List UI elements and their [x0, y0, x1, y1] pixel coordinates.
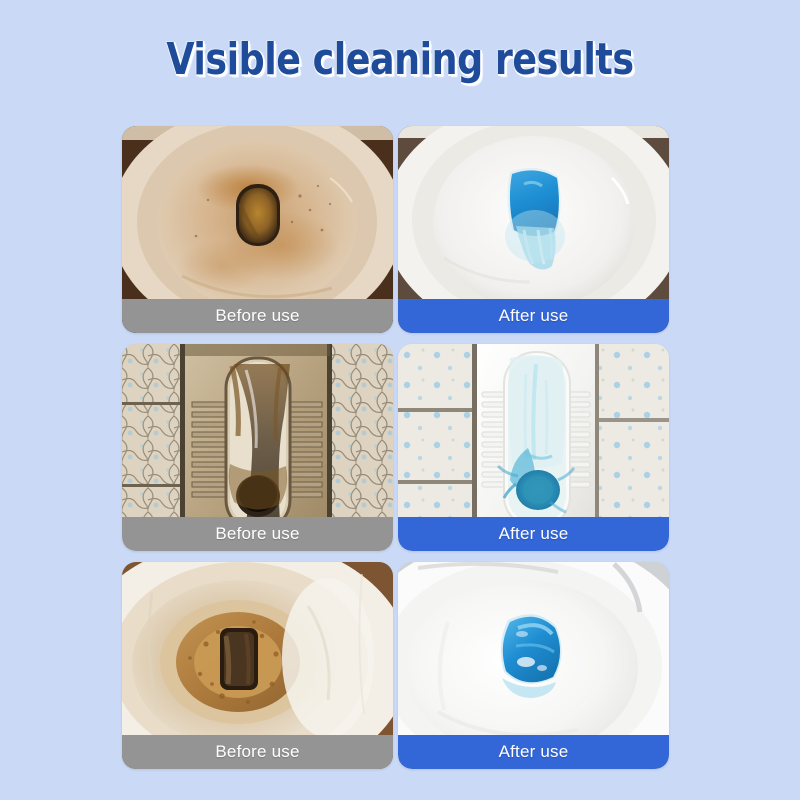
comparison-card-after[interactable]: After use — [398, 344, 669, 551]
label-after-use: After use — [398, 299, 669, 333]
page-title: Visible cleaning results — [166, 34, 633, 85]
comparison-row: Before use — [122, 562, 678, 769]
label-text: Before use — [215, 524, 299, 544]
header: Visible cleaning results — [0, 34, 800, 96]
label-after-use: After use — [398, 517, 669, 551]
comparison-card-after[interactable]: After use — [398, 126, 669, 333]
comparison-card-before[interactable]: Before use — [122, 562, 393, 769]
label-after-use: After use — [398, 735, 669, 769]
comparison-row: Before use — [122, 126, 678, 333]
comparison-card-before[interactable]: Before use — [122, 344, 393, 551]
label-before-use: Before use — [122, 735, 393, 769]
label-text: After use — [499, 306, 569, 326]
comparison-row: Before use — [122, 344, 678, 551]
label-text: Before use — [215, 742, 299, 762]
comparison-grid: Before use — [122, 126, 678, 769]
label-text: After use — [499, 742, 569, 762]
label-text: Before use — [215, 306, 299, 326]
label-before-use: Before use — [122, 517, 393, 551]
comparison-card-after[interactable]: After use — [398, 562, 669, 769]
label-text: After use — [499, 524, 569, 544]
label-before-use: Before use — [122, 299, 393, 333]
comparison-card-before[interactable]: Before use — [122, 126, 393, 333]
